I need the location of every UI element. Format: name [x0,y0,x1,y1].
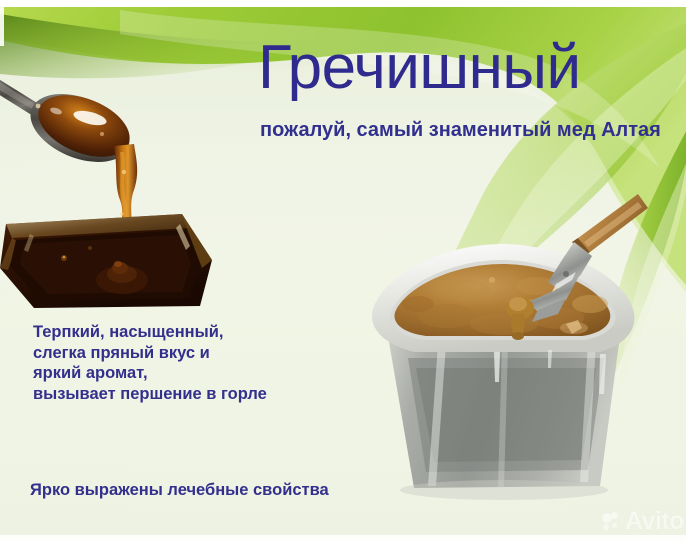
page-subtitle: пожалуй, самый знаменитый мед Алтая [260,118,661,142]
honey-poster: Гречишный пожалуй, самый знаменитый мед … [0,0,692,540]
honey-tub-photo [352,186,652,504]
feature-line-1: Терпкий, насыщенный, [33,322,267,343]
feature-line-4: вызывает першение в горле [33,384,267,405]
spoon-pouring-honey-photo [0,18,264,308]
feature-line-2: слегка пряный вкус и [33,343,267,364]
feature-line-3: яркий аромат, [33,363,267,384]
health-benefits-tagline: Ярко выражены лечебные свойства [30,480,329,500]
feature-description: Терпкий, насыщенный, слегка пряный вкус … [33,322,267,404]
page-title: Гречишный [258,35,581,101]
